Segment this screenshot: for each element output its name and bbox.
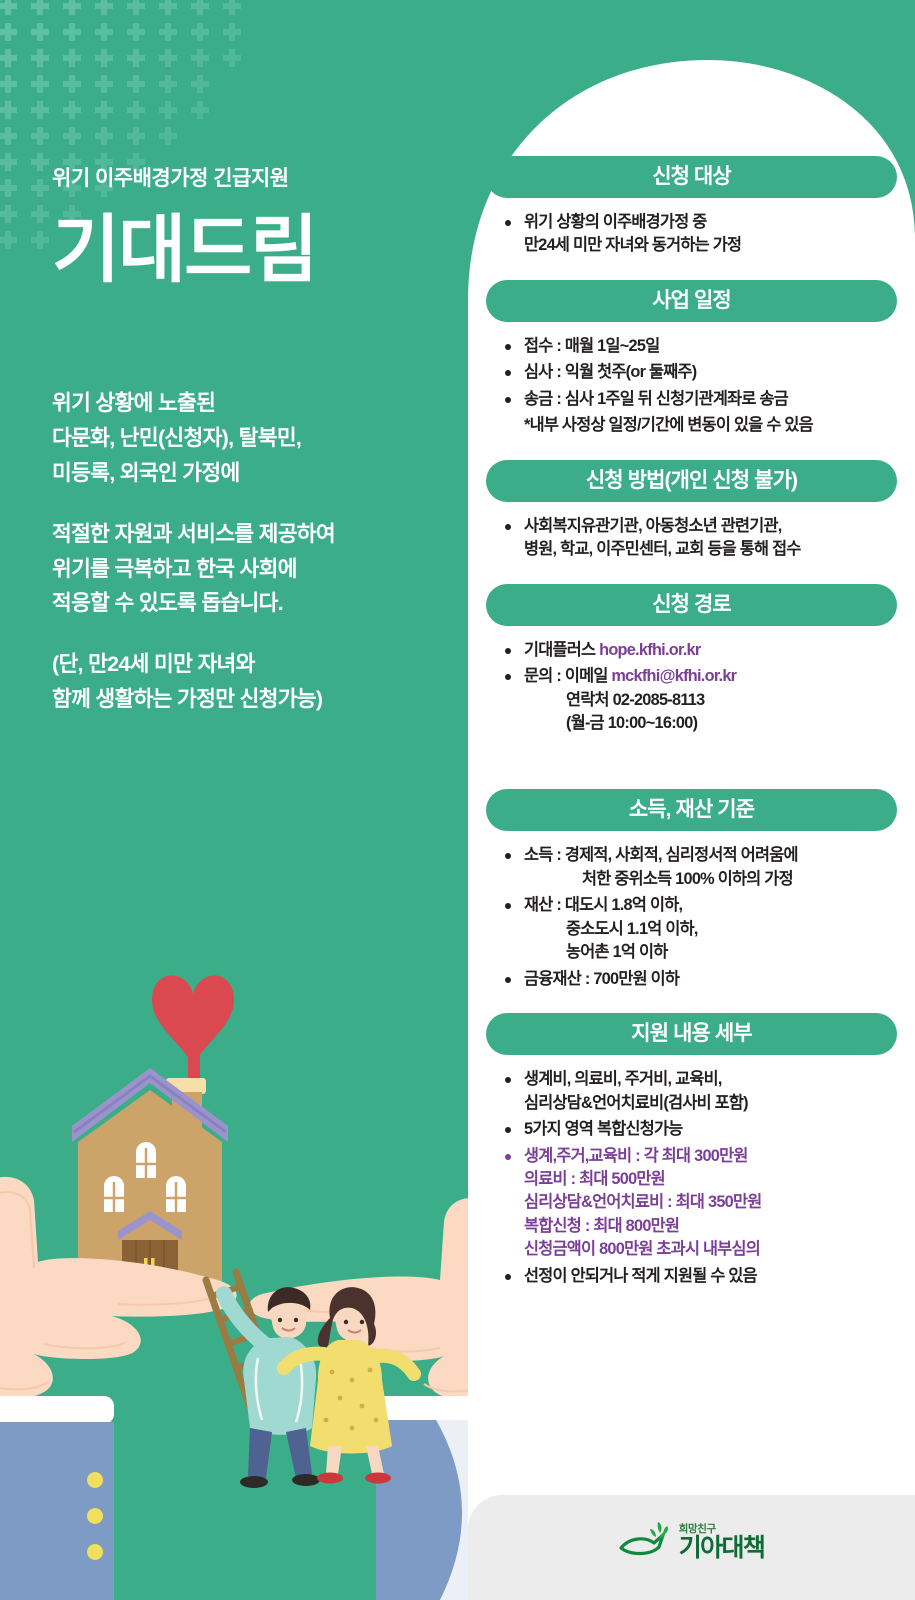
apply-channel-list: 기대플러스 hope.kfhi.or.kr 문의 : 이메일 mckfhi@kf…	[484, 639, 899, 736]
list-item: 위기 상황의 이주배경가정 중 만24세 미만 자녀와 동거하는 가정	[502, 211, 895, 258]
left-sleeve	[0, 1422, 114, 1600]
list-item: 송금 : 심사 1주일 뒤 신청기관계좌로 송금	[502, 388, 895, 411]
program-title: 기대드림	[52, 210, 452, 290]
info-panel: 신청 대상 위기 상황의 이주배경가정 중 만24세 미만 자녀와 동거하는 가…	[468, 0, 915, 1600]
chimney-body	[172, 1092, 202, 1170]
sleeve-button	[87, 1544, 103, 1560]
section-header-support-details: 지원 내용 세부	[486, 1013, 897, 1055]
poster-root: 위기 이주배경가정 긴급지원 기대드림 위기 상황에 노출된 다문화, 난민(신…	[0, 0, 915, 1600]
list-item: 기대플러스 hope.kfhi.or.kr	[502, 639, 895, 662]
asset-criteria-rural: 농어촌 1억 이하	[524, 941, 895, 964]
website-link[interactable]: hope.kfhi.or.kr	[599, 641, 700, 659]
section-how-to-apply: 신청 방법(개인 신청 불가) 사회복지유관기관, 아동청소년 관련기관, 병원…	[484, 460, 899, 562]
girl-dress	[310, 1340, 392, 1454]
list-item: 소득 : 경제적, 사회적, 심리정서적 어려움에 처한 중위소득 100% 이…	[502, 844, 895, 891]
girl-shoe	[365, 1473, 391, 1484]
left-column: 위기 이주배경가정 긴급지원 기대드림 위기 상황에 노출된 다문화, 난민(신…	[52, 0, 452, 717]
section-apply-channel: 신청 경로 기대플러스 hope.kfhi.or.kr 문의 : 이메일 mck…	[484, 584, 899, 736]
section-header-schedule: 사업 일정	[486, 280, 897, 322]
amount-counseling: 심리상담&언어치료비 : 최대 350만원	[524, 1191, 895, 1214]
panel-content: 신청 대상 위기 상황의 이주배경가정 중 만24세 미만 자녀와 동거하는 가…	[468, 0, 915, 1310]
section-header-eligibility: 신청 대상	[486, 156, 897, 198]
boy-trousers	[248, 1428, 272, 1478]
girl-hair	[318, 1287, 376, 1348]
amount-over-limit-note: 신청금액이 800만원 초과시 내부심의	[524, 1238, 895, 1261]
list-item: 문의 : 이메일 mckfhi@kfhi.or.kr 연락처 02-2085-8…	[502, 665, 895, 735]
description-paragraph: (단, 만24세 미만 자녀와 함께 생활하는 가정만 신청가능)	[52, 647, 452, 717]
house-windows	[104, 1142, 186, 1216]
office-hours: (월-금 10:00~16:00)	[524, 712, 895, 735]
left-hand-pointing	[0, 1177, 237, 1600]
list-item: 생계비, 의료비, 주거비, 교육비, 심리상담&언어치료비(검사비 포함)	[502, 1068, 895, 1115]
sleeve-button	[87, 1508, 103, 1524]
schedule-list: 접수 : 매월 1일~25일 심사 : 익월 첫주(or 둘째주) 송금 : 심…	[484, 335, 899, 438]
list-item: 재산 : 대도시 1.8억 이하, 중소도시 1.1억 이하, 농어촌 1억 이…	[502, 894, 895, 964]
section-support-details: 지원 내용 세부 생계비, 의료비, 주거비, 교육비, 심리상담&언어치료비(…	[484, 1013, 899, 1288]
org-tagline: 희망친구	[679, 1524, 765, 1535]
girl-in-yellow-dress	[284, 1287, 414, 1483]
section-eligibility: 신청 대상 위기 상황의 이주배경가정 중 만24세 미만 자녀와 동거하는 가…	[484, 156, 899, 258]
list-item-amounts: 생계,주거,교육비 : 각 최대 300만원 의료비 : 최대 500만원 심리…	[502, 1145, 895, 1262]
phone-number: 연락처 02-2085-8113	[524, 689, 895, 712]
list-item: 심사 : 익월 첫주(or 둘째주)	[502, 361, 895, 384]
list-item: 금융재산 : 700만원 이하	[502, 968, 895, 991]
list-note: *내부 사정상 일정/기간에 변동이 있을 수 있음	[502, 414, 895, 437]
amount-combined: 복합신청 : 최대 800만원	[524, 1215, 895, 1238]
door-awning	[118, 1211, 182, 1240]
how-to-apply-list: 사회복지유관기관, 아동청소년 관련기관, 병원, 학교, 이주민센터, 교회 …	[484, 515, 899, 562]
house-roof	[72, 1068, 228, 1142]
list-item: 5가지 영역 복합신청가능	[502, 1118, 895, 1141]
girl-shoe	[317, 1473, 343, 1484]
channel-label: 기대플러스	[524, 641, 599, 659]
list-item: 사회복지유관기관, 아동청소년 관련기관, 병원, 학교, 이주민센터, 교회 …	[502, 515, 895, 562]
hands-holding-house-illustration	[0, 880, 470, 1600]
email-link[interactable]: mckfhi@kfhi.or.kr	[611, 667, 736, 685]
wooden-door	[122, 1240, 178, 1286]
description-paragraph: 적절한 자원과 서비스를 제공하여 위기를 극복하고 한국 사회에 적응할 수 …	[52, 517, 452, 621]
amount-living-housing-education: 생계,주거,교육비 : 각 최대 300만원	[524, 1147, 748, 1165]
heart-chimney-smoke-icon	[152, 975, 234, 1065]
eligibility-list: 위기 상황의 이주배경가정 중 만24세 미만 자녀와 동거하는 가정	[484, 211, 899, 258]
description-paragraph: 위기 상황에 노출된 다문화, 난민(신청자), 탈북민, 미등록, 외국인 가…	[52, 386, 452, 490]
list-item: 접수 : 매월 1일~25일	[502, 335, 895, 358]
section-header-income-assets: 소득, 재산 기준	[486, 789, 897, 831]
right-hand-pointing	[249, 1198, 470, 1600]
section-header-apply-channel: 신청 경로	[486, 584, 897, 626]
right-sleeve-cuff	[376, 1396, 470, 1422]
section-header-how-to-apply: 신청 방법(개인 신청 불가)	[486, 460, 897, 502]
boy-shoe	[292, 1474, 320, 1486]
section-income-assets: 소득, 재산 기준 소득 : 경제적, 사회적, 심리정서적 어려움에 처한 중…	[484, 789, 899, 991]
list-item: 선정이 안되거나 적게 지원될 수 있음	[502, 1265, 895, 1288]
support-details-list: 생계비, 의료비, 주거비, 교육비, 심리상담&언어치료비(검사비 포함) 5…	[484, 1068, 899, 1288]
asset-criteria-midcity: 중소도시 1.1억 이하,	[524, 918, 895, 941]
left-sleeve-cuff	[0, 1396, 114, 1424]
boy-hair	[268, 1287, 311, 1312]
wooden-ladder	[206, 1272, 292, 1442]
sleeve-button	[87, 1472, 103, 1488]
program-kicker: 위기 이주배경가정 긴급지원	[52, 165, 452, 192]
income-criteria: 소득 : 경제적, 사회적, 심리정서적 어려움에	[524, 846, 798, 864]
amount-medical: 의료비 : 최대 500만원	[524, 1168, 895, 1191]
organization-logo: 희망친구 기아대책	[468, 1521, 915, 1561]
fish-with-wheat-logo-icon	[619, 1521, 671, 1561]
program-description: 위기 상황에 노출된 다문화, 난민(신청자), 탈북민, 미등록, 외국인 가…	[52, 386, 452, 717]
section-schedule: 사업 일정 접수 : 매월 1일~25일 심사 : 익월 첫주(or 둘째주) …	[484, 280, 899, 438]
org-name: 기아대책	[679, 1536, 765, 1561]
house-body	[78, 1090, 222, 1285]
asset-criteria: 재산 : 대도시 1.8억 이하,	[524, 896, 682, 914]
right-sleeve	[376, 1420, 470, 1600]
inquiry-label: 문의 : 이메일	[524, 667, 611, 685]
income-criteria-cont: 처한 중위소득 100% 이하의 가정	[524, 868, 895, 891]
footer-bar: 희망친구 기아대책	[468, 1495, 915, 1600]
boy-sweater	[243, 1337, 316, 1435]
boy-shoe	[240, 1476, 268, 1488]
income-assets-list: 소득 : 경제적, 사회적, 심리정서적 어려움에 처한 중위소득 100% 이…	[484, 844, 899, 991]
logo-wordmark: 희망친구 기아대책	[679, 1524, 765, 1562]
boy-in-mint-sweater	[224, 1287, 320, 1488]
chimney-cap	[166, 1078, 206, 1094]
